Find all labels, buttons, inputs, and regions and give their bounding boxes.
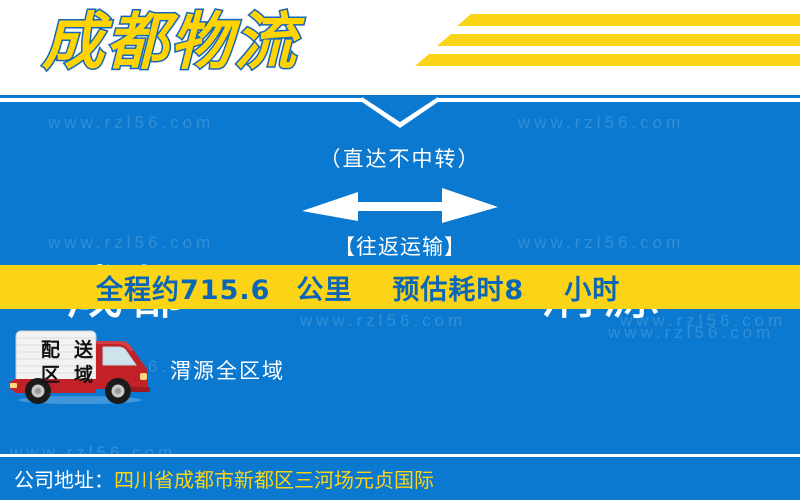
company-address-label: 公司地址： <box>14 468 114 492</box>
footer-band: 公司地址：四川省成都市新都区三河场元贞国际 <box>0 454 800 500</box>
company-address-value: 四川省成都市新都区三河场元贞国际 <box>114 468 434 492</box>
watermark-text: www.rzl56.com <box>48 233 214 253</box>
duration-value: 8 <box>504 275 524 306</box>
watermark-text: www.rzl56.com <box>518 113 684 133</box>
distance-band: 全程约715.6公里预估耗时8小时 <box>0 265 800 309</box>
bidirectional-arrow-icon <box>280 185 520 225</box>
watermark-text: www.rzl56.com <box>48 113 214 133</box>
coverage-area-text: 渭源全区域 <box>170 355 285 385</box>
poster-root: 成都物流 www.rzl56.com www.rzl56.com www.rzl… <box>0 0 800 500</box>
watermark-text: www.rzl56.com <box>518 233 684 253</box>
chevron-down-icon <box>360 96 440 130</box>
header-stripe-2 <box>437 34 800 46</box>
header-stripes <box>415 14 800 76</box>
roundtrip-label: 【往返运输】 <box>280 231 520 261</box>
delivery-row: 配 送 区 域 渭源全区域 <box>0 327 800 417</box>
header-band: 成都物流 <box>0 0 800 95</box>
direct-shipping-label: （直达不中转） <box>280 143 520 173</box>
header-stripe-1 <box>457 14 800 26</box>
divider-line-left <box>0 98 362 102</box>
distance-value: 715.6 <box>180 275 270 306</box>
main-blue-panel: www.rzl56.com www.rzl56.com www.rzl56.co… <box>0 95 800 500</box>
header-stripe-3 <box>415 54 800 66</box>
delivery-truck-icon: 配 送 区 域 <box>8 327 158 405</box>
company-address-line: 公司地址：四川省成都市新都区三河场元贞国际 <box>0 464 434 493</box>
route-center-block: （直达不中转） 【往返运输】 <box>280 143 520 261</box>
brand-title: 成都物流 <box>42 2 298 82</box>
distance-prefix: 全程约 <box>96 268 180 307</box>
duration-unit: 小时 <box>564 268 620 307</box>
divider-line-right <box>438 98 800 102</box>
distance-unit: 公里 <box>296 268 352 307</box>
duration-prefix: 预估耗时 <box>392 268 504 307</box>
distance-summary: 全程约715.6公里预估耗时8小时 <box>0 268 620 307</box>
